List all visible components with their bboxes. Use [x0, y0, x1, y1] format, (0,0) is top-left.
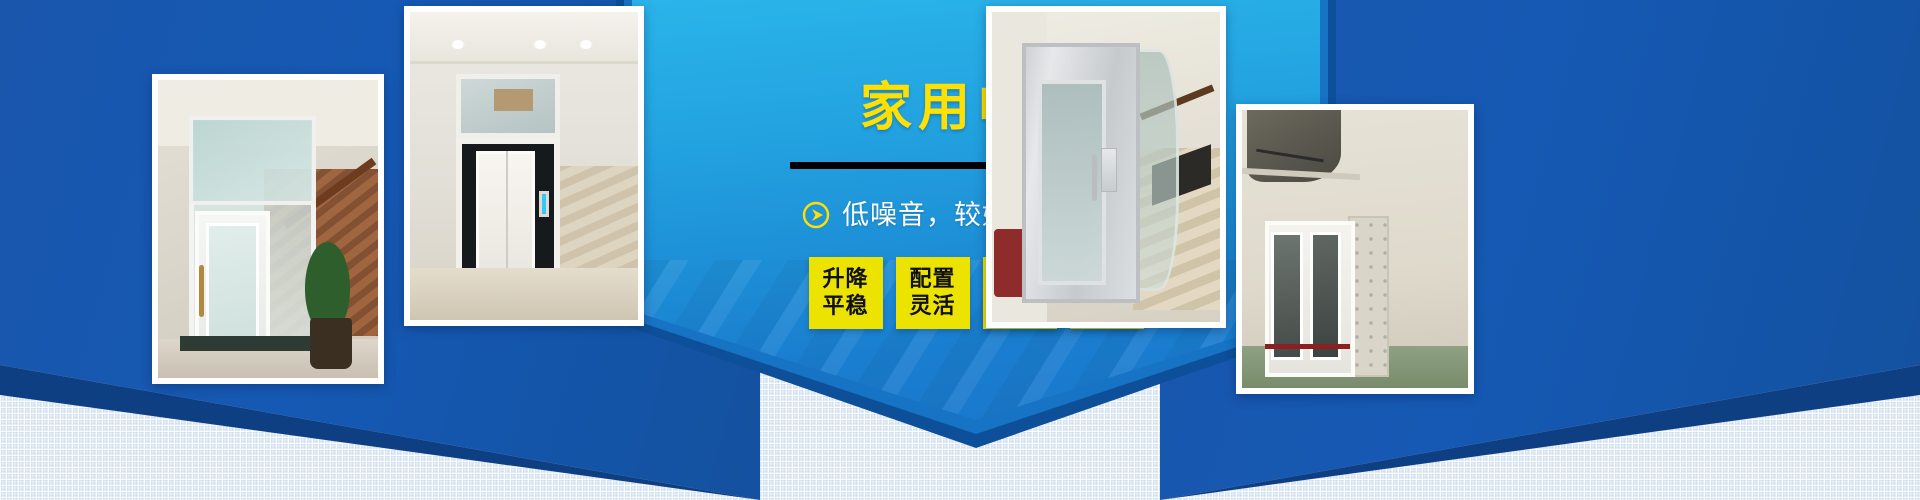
scene-modern-white-elevator — [410, 12, 638, 320]
badge-line-1: 配置 — [909, 266, 955, 293]
product-photo-2-image — [410, 12, 638, 320]
feature-badge: 升降 平稳 — [809, 257, 883, 329]
badge-line-2: 平稳 — [822, 293, 868, 320]
scene-glass-elevator-stairs — [158, 80, 378, 378]
badge-line-1: 升降 — [822, 266, 868, 293]
badge-line-2: 灵活 — [909, 293, 955, 320]
product-photo-2 — [404, 6, 644, 326]
product-photo-3 — [986, 6, 1226, 328]
product-photo-1 — [152, 74, 384, 384]
feature-badge: 配置 灵活 — [896, 257, 970, 329]
product-photo-4 — [1236, 104, 1474, 394]
product-photo-3-image — [992, 12, 1220, 322]
scene-steel-glass-elevator — [992, 12, 1220, 322]
product-photo-4-image — [1242, 110, 1468, 388]
circled-play-arrow-icon — [802, 201, 830, 229]
product-photo-1-image — [158, 80, 378, 378]
scene-installation-elevator — [1242, 110, 1468, 388]
home-elevator-banner: 家用电梯 低噪音，较好的经济性。 升降 平稳 配置 灵活 适应 性强 — [0, 0, 1920, 500]
